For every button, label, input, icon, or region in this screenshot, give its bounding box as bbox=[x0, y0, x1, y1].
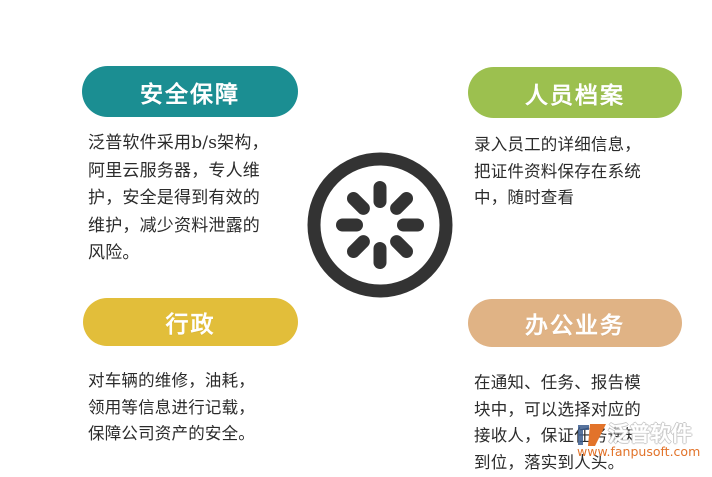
infographic-canvas: 安全保障 人员档案 行政 办公业务 泛普软件采用b/s架构， 阿里云服务器，专人… bbox=[0, 0, 712, 468]
card-body-security: 泛普软件采用b/s架构， 阿里云服务器，专人维 护，安全是得到有效的 维护，减少… bbox=[88, 130, 304, 268]
card-title-text-hr: 人员档案 bbox=[525, 76, 625, 110]
card-title-text-security: 安全保障 bbox=[140, 75, 240, 109]
card-title-pill-admin[interactable]: 行政 bbox=[83, 298, 298, 346]
loading-spinner-circle-icon bbox=[303, 148, 457, 302]
card-body-admin: 对车辆的维修，油耗， 领用等信息进行记载， 保障公司资产的安全。 bbox=[88, 368, 304, 448]
card-title-pill-hr[interactable]: 人员档案 bbox=[468, 67, 682, 118]
card-title-text-admin: 行政 bbox=[166, 305, 216, 339]
card-title-text-office: 办公业务 bbox=[525, 306, 625, 340]
card-title-pill-office[interactable]: 办公业务 bbox=[468, 299, 682, 347]
card-body-office: 在通知、任务、报告模 块中，可以选择对应的 接收人，保证任务通知 到位，落实到人… bbox=[474, 370, 690, 477]
card-title-pill-security[interactable]: 安全保障 bbox=[82, 66, 298, 117]
card-body-hr: 录入员工的详细信息， 把证件资料保存在系统 中，随时查看 bbox=[474, 132, 686, 212]
